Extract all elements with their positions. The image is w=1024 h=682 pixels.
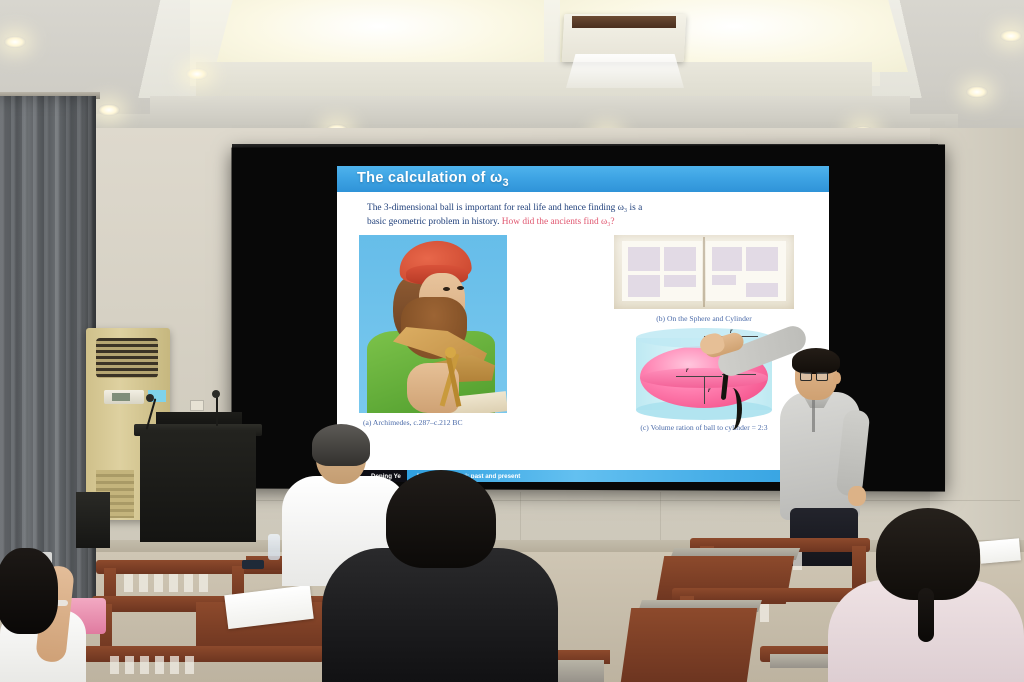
bench-slat [124,574,133,592]
manuscript-diagram [746,283,778,297]
audience-ponytail [918,588,934,642]
archimedes-illustration [359,235,507,413]
audience-hair [312,424,370,466]
audience-hair [0,548,58,634]
compass-hinge-icon [445,347,456,358]
bench-slat [760,604,769,622]
bench-slat [199,574,208,592]
manuscript-text-block [664,275,696,287]
bench-slats [110,656,194,674]
radius-label: r [686,368,688,374]
audience-hair [386,470,496,568]
downlight-icon [966,86,988,98]
wall-seam [520,492,521,544]
slide-title: The calculation of ω3 [337,170,509,189]
glasses-icon [816,372,828,381]
bench-slat [154,574,163,592]
slide-body-line-1: The 3-dimensional ball is important for … [367,201,807,215]
downlight-icon [186,68,208,80]
presenter-right-hand [848,486,866,506]
microphone-head-icon [146,394,154,402]
downlight-icon [98,104,120,116]
lecture-hall-photo: The calculation of ω3 The 3-dimensional … [0,0,1024,682]
bench-slat [125,656,134,674]
radius-label: r [708,388,710,394]
wall-seam [660,492,661,544]
manuscript-photo [614,235,794,309]
archimedes-eye [443,287,450,291]
slide-body-question: How did the ancients find ω₃? [502,217,615,227]
manuscript-text-block [712,275,736,285]
audience-hair [876,508,980,600]
bench-slats [124,574,208,592]
bench-slat [170,656,179,674]
manuscript-text-block [746,247,778,271]
bench-slat [110,656,119,674]
figure-archimedes: (a) Archimedes, c.287–c.212 BC [359,235,509,433]
projector-lens [572,16,676,28]
downlight-icon [1000,30,1022,42]
air-conditioner-grill [96,338,158,378]
bench-slat [139,574,148,592]
manuscript-spine [703,237,705,307]
bench-slat [169,574,178,592]
slide-figures: (a) Archimedes, c.287–c.212 BC [337,229,829,433]
manuscript-text-block [628,275,660,297]
lectern [140,430,256,542]
air-conditioner-display [112,393,130,401]
bench-slat [155,656,164,674]
figure-a-caption: (a) Archimedes, c.287–c.212 BC [359,418,509,428]
slide-body-line-2: basic geometric problem in history. How … [367,215,807,229]
manuscript-text-block [628,247,660,271]
paper-sheet[interactable] [979,538,1021,563]
manuscript-text-block [664,247,696,271]
presenter-ear [833,372,841,384]
radius-line-vertical [704,376,705,404]
figure-b-caption: (b) On the Sphere and Cylinder [597,314,811,324]
desk-front-panel [621,608,757,682]
presenter-hair [792,348,840,374]
radius-line-mid [676,376,722,377]
microphone-head-icon [212,390,220,398]
slide-title-bar: The calculation of ω3 [337,166,829,192]
projector-beam [566,54,684,88]
figure-c-caption: (c) Volume ration of ball to cylinder = … [597,423,811,433]
bench-slat [184,574,193,592]
bench-slat [185,656,194,674]
equipment-box [76,492,110,548]
presenter-placket [812,398,815,432]
downlight-icon [4,36,26,48]
slide-title-subscript: 3 [503,176,509,188]
bench-slat [140,656,149,674]
slide-body-line-2-dark: basic geometric problem in history. [367,217,499,227]
glasses-icon [800,372,812,381]
presentation-slide: The calculation of ω3 The 3-dimensional … [337,166,829,482]
smartphone[interactable] [242,560,264,569]
microphone-gooseneck[interactable] [216,396,218,426]
manuscript-text-block [712,247,742,271]
wall-socket[interactable] [190,400,204,411]
slide-title-text: The calculation of ω [357,170,503,186]
archimedes-eye [457,286,464,290]
slide-body: The 3-dimensional ball is important for … [337,192,829,229]
water-bottle[interactable] [268,534,280,560]
audience-dark-top [322,548,558,682]
